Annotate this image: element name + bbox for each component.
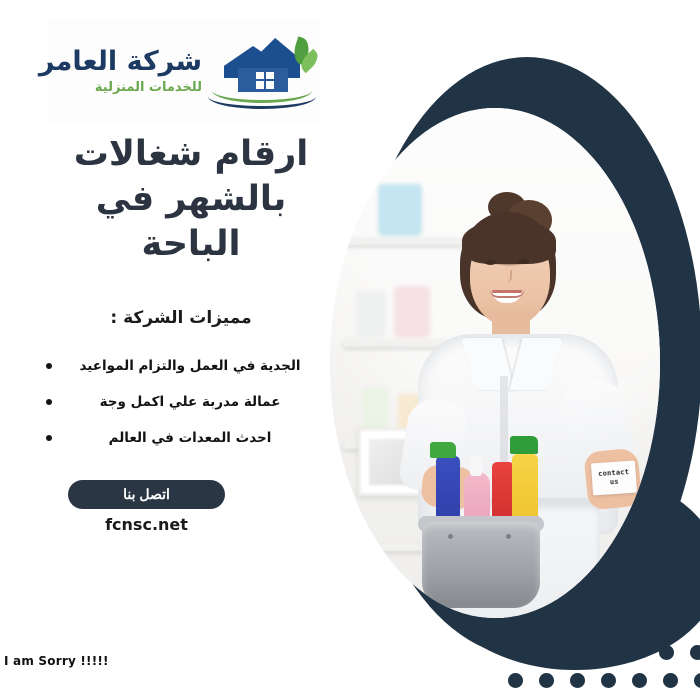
card-text-line2: us	[610, 478, 619, 487]
dot	[539, 673, 554, 688]
dot	[566, 645, 581, 660]
headline-line-1: ارقام شغالات	[46, 132, 336, 177]
cleaning-bucket	[422, 522, 540, 608]
features-list: الجدية في العمل والتزام المواعيد عمالة م…	[46, 348, 316, 456]
company-logo[interactable]: شركة العامر للخدمات المنزلية	[48, 18, 320, 122]
headline: ارقام شغالات بالشهر في الباحة	[46, 132, 336, 266]
contact-us-button[interactable]: اتصل بنا	[68, 480, 225, 509]
headline-line-3: الباحة	[46, 222, 336, 267]
dot	[663, 673, 678, 688]
ad-canvas: contact us ش	[0, 0, 700, 700]
feature-text: احدث المعدات في العالم	[56, 430, 310, 446]
dot-grid-row-bottom	[508, 673, 700, 688]
dot	[535, 645, 550, 660]
features-title: مميزات الشركة :	[46, 308, 316, 328]
bullet-icon	[46, 435, 52, 441]
person-figure: contact us	[388, 204, 643, 618]
contact-card: contact us	[591, 461, 637, 496]
headline-line-2: بالشهر في	[46, 177, 336, 222]
card-text-line1: contact	[598, 468, 629, 478]
feature-text: الجدية في العمل والتزام المواعيد	[56, 358, 310, 374]
house-with-leaves-icon	[208, 32, 316, 108]
bullet-icon	[46, 363, 52, 369]
list-item: عمالة مدربة علي اكمل وجة	[46, 384, 316, 420]
dot	[632, 673, 647, 688]
logo-tagline: للخدمات المنزلية	[95, 80, 202, 95]
bottle-pink-cap	[470, 456, 482, 476]
list-item: الجدية في العمل والتزام المواعيد	[46, 348, 316, 384]
logo-company-name: شركة العامر	[39, 46, 202, 77]
bullet-icon	[46, 399, 52, 405]
dot	[508, 673, 523, 688]
dot	[570, 673, 585, 688]
dot	[628, 645, 643, 660]
maid-photo: contact us	[330, 108, 660, 618]
list-item: احدث المعدات في العالم	[46, 420, 316, 456]
dot	[690, 645, 700, 660]
watermark-text: I am Sorry !!!!!	[4, 654, 109, 668]
dot	[659, 645, 674, 660]
website-url[interactable]: fcnsc.net	[68, 515, 225, 534]
dot	[597, 645, 612, 660]
dot-grid-row-top	[535, 645, 700, 660]
dot	[601, 673, 616, 688]
dot	[694, 673, 700, 688]
feature-text: عمالة مدربة علي اكمل وجة	[56, 394, 310, 410]
photo-background: contact us	[330, 108, 660, 618]
